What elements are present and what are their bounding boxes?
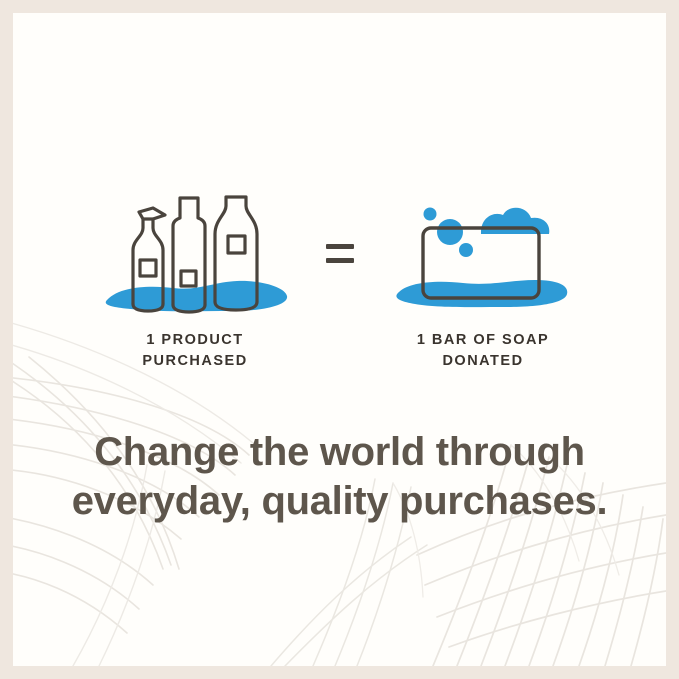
soap-bar-art [353, 188, 613, 316]
icon-comparison-row: 1 PRODUCT PURCHASED [13, 188, 666, 383]
bubble-small-mid [459, 243, 473, 257]
soap-donated-caption: 1 BAR OF SOAP DONATED [353, 330, 613, 372]
equals-bar-bottom [326, 258, 354, 263]
product-bottles-art [65, 188, 325, 316]
bubble-small-top [424, 208, 437, 221]
soap-donated-block: 1 BAR OF SOAP DONATED [353, 188, 613, 372]
product-bottles-icon [95, 188, 295, 316]
equals-sign [326, 240, 356, 270]
poster-root: 1 PRODUCT PURCHASED [0, 0, 679, 679]
product-purchased-block: 1 PRODUCT PURCHASED [65, 188, 325, 372]
foam-cloud-shape [481, 208, 549, 234]
headline-text: Change the world through everyday, quali… [13, 428, 666, 526]
bubble-large [437, 219, 463, 245]
equals-bar-top [326, 244, 354, 249]
product-purchased-caption: 1 PRODUCT PURCHASED [65, 330, 325, 372]
poster-inner-panel: 1 PRODUCT PURCHASED [13, 13, 666, 666]
soap-bar-icon [393, 188, 573, 316]
